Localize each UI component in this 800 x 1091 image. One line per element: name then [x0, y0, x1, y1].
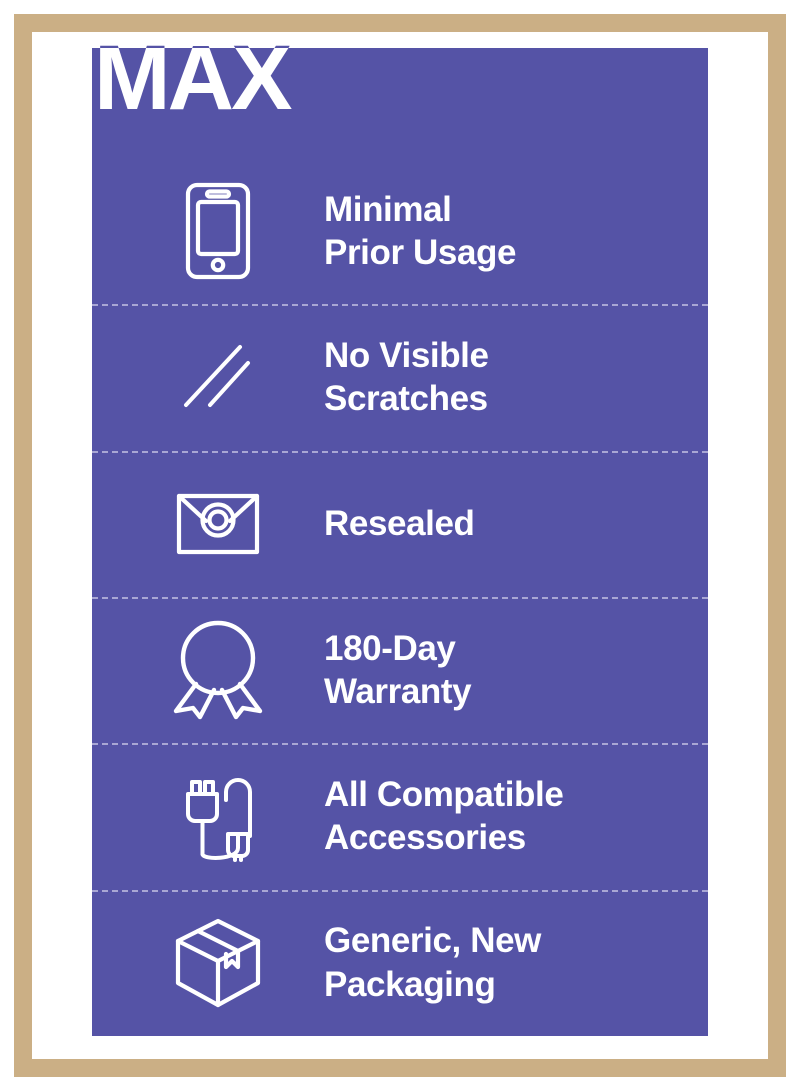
- feature-row: No Visible Scratches: [92, 304, 708, 450]
- package-box-icon: [112, 917, 324, 1009]
- page-title: MAX: [94, 36, 289, 121]
- feature-row: Generic, New Packaging: [92, 890, 708, 1036]
- feature-row: 180-Day Warranty: [92, 597, 708, 743]
- feature-row: Minimal Prior Usage: [92, 158, 708, 304]
- feature-label: No Visible Scratches: [324, 334, 708, 421]
- sealed-envelope-icon: [112, 493, 324, 555]
- feature-panel: Minimal Prior Usage No Visible Scratches: [92, 48, 708, 1036]
- scratches-icon: [112, 341, 324, 413]
- feature-label: 180-Day Warranty: [324, 627, 708, 714]
- feature-label: Generic, New Packaging: [324, 919, 708, 1006]
- award-ribbon-icon: [112, 618, 324, 722]
- feature-row: All Compatible Accessories: [92, 743, 708, 889]
- feature-label: Resealed: [324, 502, 708, 545]
- usb-cable-icon: [112, 770, 324, 862]
- feature-label: Minimal Prior Usage: [324, 188, 708, 275]
- feature-label: All Compatible Accessories: [324, 773, 708, 860]
- feature-list: Minimal Prior Usage No Visible Scratches: [92, 158, 708, 1036]
- feature-row: Resealed: [92, 451, 708, 597]
- smartphone-icon: [112, 182, 324, 280]
- condition-grade-infographic: Minimal Prior Usage No Visible Scratches: [0, 0, 800, 1091]
